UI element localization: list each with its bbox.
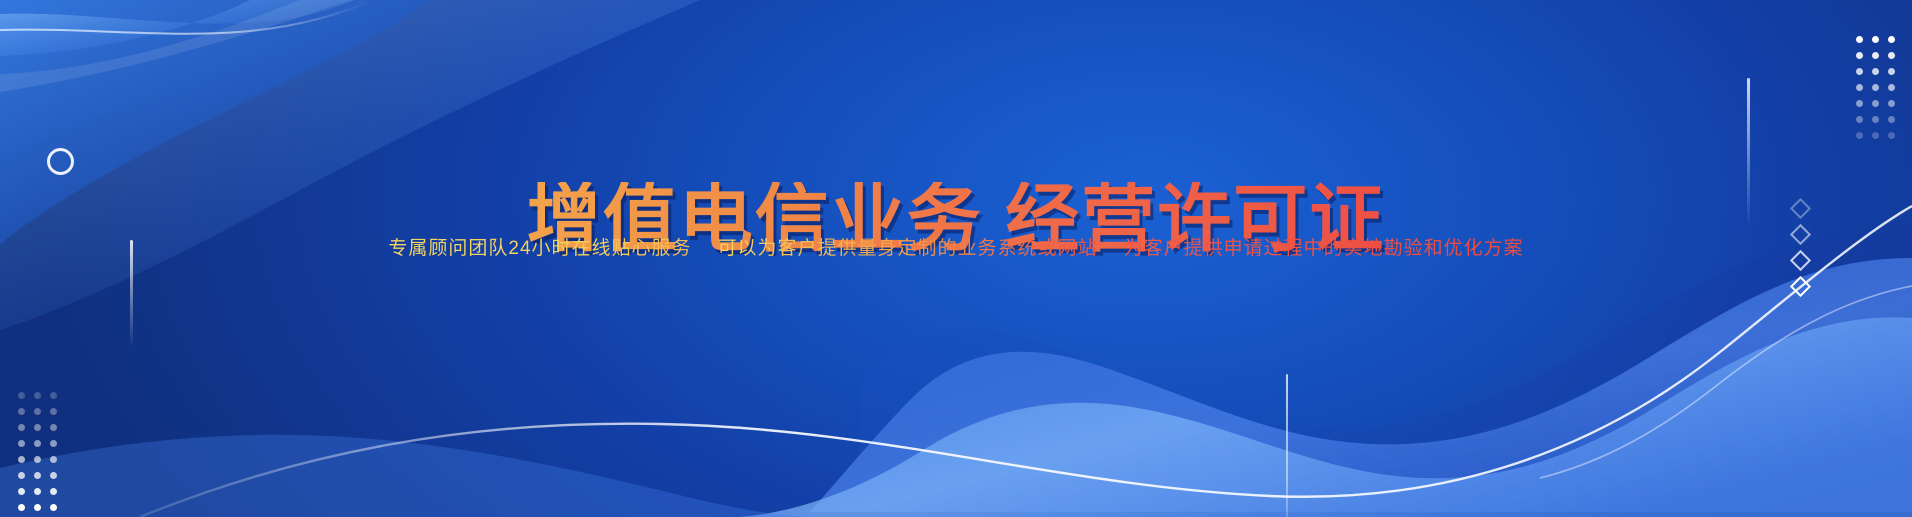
subtitle-item-3: 为客户提供申请过程中的实地勘验和优化方案 [1124, 236, 1524, 263]
subtitle-row: 专属顾问团队24小时在线贴心服务 可以为客户提供量身定制的业务系统或网站 为客户… [0, 236, 1912, 263]
promotional-banner: 增值电信业务 经营许可证 专属顾问团队24小时在线贴心服务 可以为客户提供量身定… [0, 0, 1912, 517]
banner-content: 增值电信业务 经营许可证 专属顾问团队24小时在线贴心服务 可以为客户提供量身定… [0, 0, 1912, 517]
subtitle-item-1: 专属顾问团队24小时在线贴心服务 [388, 236, 691, 263]
subtitle-item-2: 可以为客户提供量身定制的业务系统或网站 [718, 236, 1098, 263]
